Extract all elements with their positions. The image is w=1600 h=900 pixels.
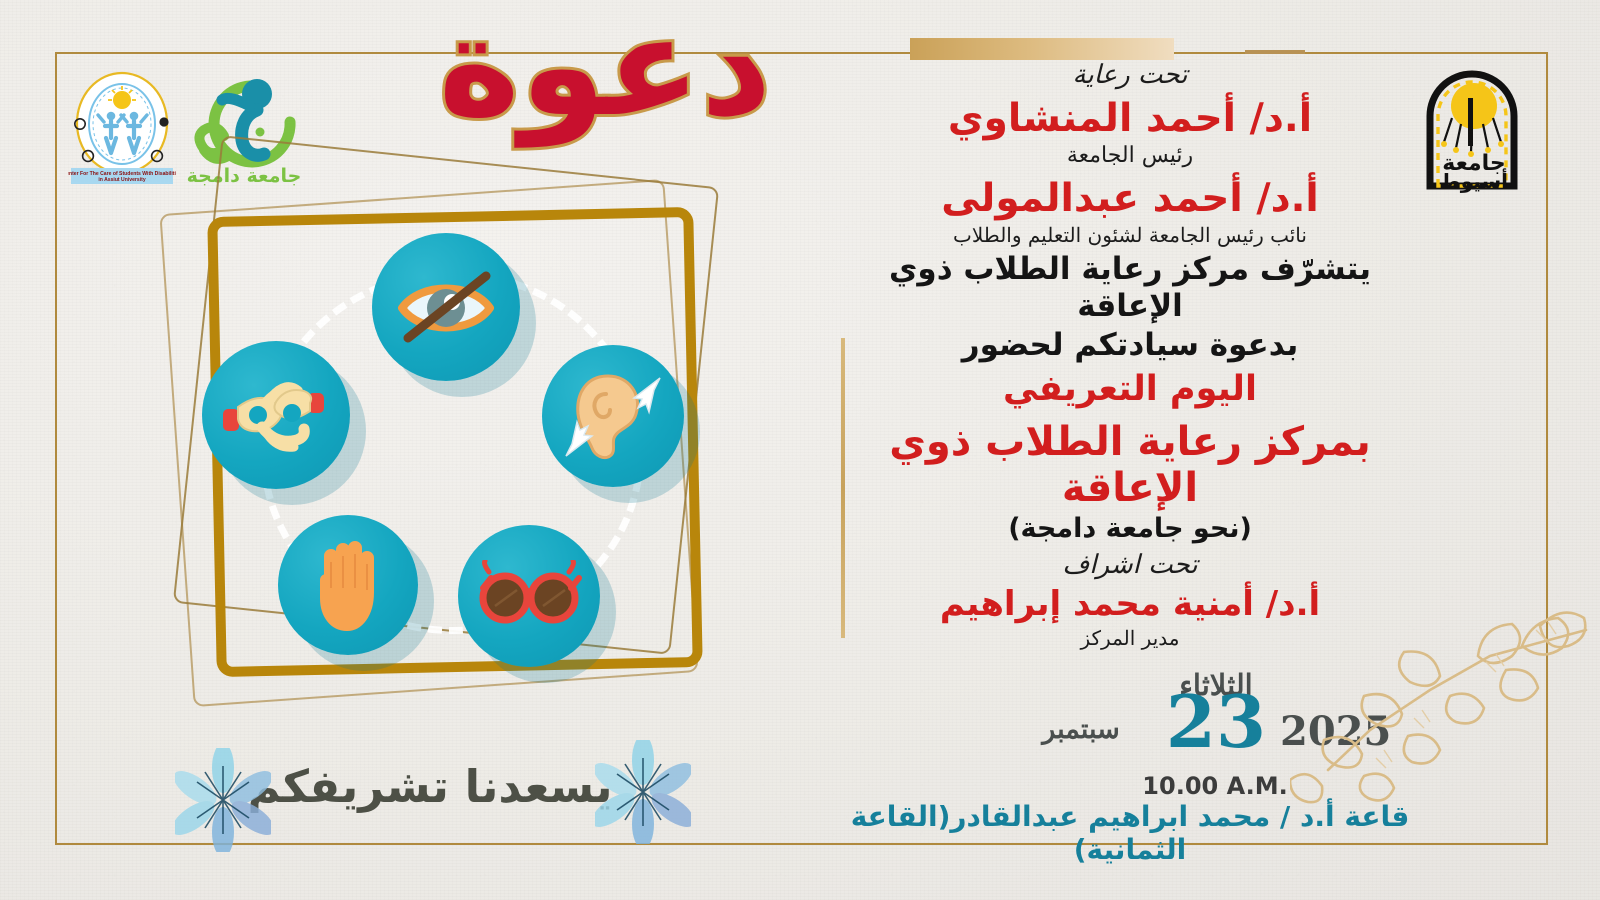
- center-motto: (نحو جامعة دامجة): [850, 513, 1410, 544]
- sign-language-hands-icon: [202, 341, 350, 489]
- patron-2-name: أ.د/ أحمد عبدالمولى: [850, 176, 1410, 221]
- vertical-gold-divider: [841, 338, 845, 638]
- poster-canvas: دعوة: [0, 0, 1600, 900]
- event-day-number: 23: [1146, 688, 1286, 756]
- dark-sunglasses-icon: [458, 525, 600, 667]
- blue-flower-icon-left: [175, 748, 271, 856]
- event-name: اليوم التعريفي: [850, 369, 1410, 409]
- invitation-line-1: يتشرّف مركز رعاية الطلاب ذوي الإعاقة: [850, 251, 1410, 324]
- event-month: سبتمبر: [1016, 714, 1146, 745]
- gold-gradient-bar: [910, 38, 1174, 60]
- svg-text:in Assiut University: in Assiut University: [98, 177, 146, 183]
- svg-text:أسيوط: أسيوط: [1440, 167, 1508, 193]
- welcome-message: يسعدنا تشريفكم: [240, 760, 620, 813]
- page-title: دعوة: [395, 0, 815, 142]
- raised-hand-icon: [278, 515, 418, 655]
- patron-2-role: نائب رئيس الجامعة لشئون التعليم والطلاب: [850, 223, 1410, 247]
- patron-1-role: رئيس الجامعة: [850, 143, 1410, 168]
- under-patronage-label: تحت رعاية: [850, 60, 1410, 90]
- invitation-line-2: بدعوة سيادتكم لحضور: [850, 327, 1410, 364]
- gold-botanical-branch-icon: [1290, 560, 1590, 854]
- assiut-university-seal: جامعة أسيوط: [1408, 58, 1536, 198]
- center-for-care-of-students-with-disabilities-logo: Center For The Care of Students With Dis…: [68, 68, 176, 186]
- hearing-ear-icon: [542, 345, 684, 487]
- blue-flower-icon-right: [595, 740, 691, 848]
- gold-accent-line: [1245, 50, 1305, 54]
- disability-icons-composition: [190, 195, 720, 695]
- organizing-center: بمركز رعاية الطلاب ذوي الإعاقة: [850, 419, 1410, 511]
- patron-1-name: أ.د/ أحمد المنشاوي: [850, 96, 1410, 141]
- blind-eye-icon: [372, 233, 520, 381]
